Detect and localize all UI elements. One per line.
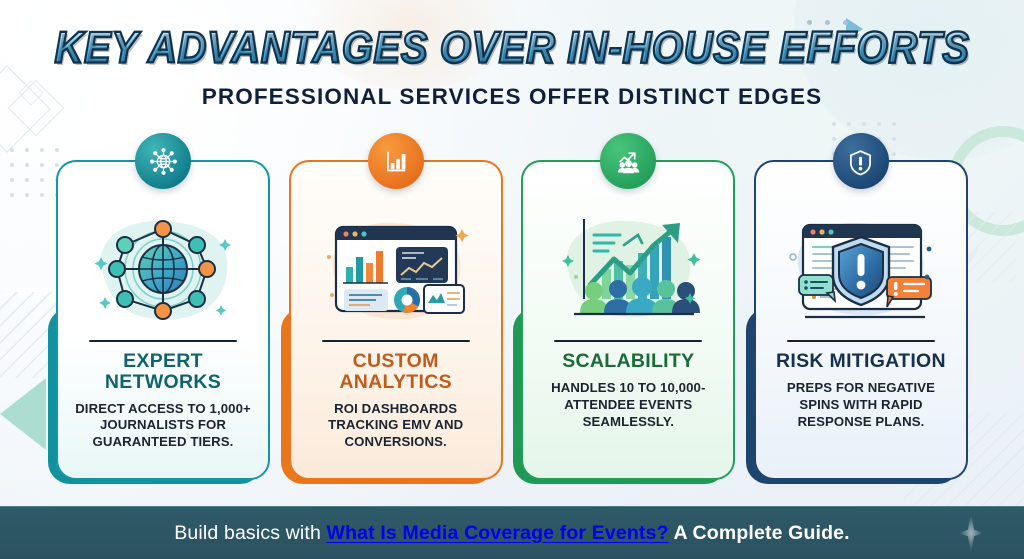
footer-text: Build basics with What Is Media Coverage… bbox=[174, 522, 849, 545]
advantage-card-scalability[interactable]: SCALABILITY HANDLES 10 TO 10,000-ATTENDE… bbox=[521, 160, 735, 480]
globe-network-icon bbox=[135, 133, 191, 189]
card-title: SCALABILITY bbox=[562, 351, 694, 372]
card-title: RISK MITIGATION bbox=[776, 351, 946, 372]
advantage-card-custom-analytics[interactable]: CUSTOM ANALYTICS ROI DASHBOARDS TRACKING… bbox=[289, 160, 503, 480]
footer-lead-text: Build basics with bbox=[174, 522, 326, 544]
card-divider bbox=[554, 340, 702, 342]
card-title: CUSTOM ANALYTICS bbox=[303, 351, 489, 392]
advantage-card-risk-mitigation[interactable]: RISK MITIGATION PREPS FOR NEGATIVE SPINS… bbox=[754, 160, 968, 480]
card-divider bbox=[322, 340, 470, 342]
advantage-card-expert-networks[interactable]: EXPERT NETWORKS DIRECT ACCESS TO 1,000+ … bbox=[56, 160, 270, 480]
page-subtitle: PROFESSIONAL SERVICES OFFER DISTINCT EDG… bbox=[0, 84, 1024, 110]
analytics-dashboard-illustration bbox=[303, 200, 489, 338]
card-title: EXPERT NETWORKS bbox=[70, 351, 256, 392]
card-body: RISK MITIGATION PREPS FOR NEGATIVE SPINS… bbox=[754, 160, 968, 480]
advantage-cards-row: EXPERT NETWORKS DIRECT ACCESS TO 1,000+ … bbox=[56, 160, 968, 480]
card-description: HANDLES 10 TO 10,000-ATTENDEE EVENTS SEA… bbox=[535, 380, 721, 431]
card-body: CUSTOM ANALYTICS ROI DASHBOARDS TRACKING… bbox=[289, 160, 503, 480]
shield-monitor-illustration bbox=[768, 200, 954, 338]
card-body: EXPERT NETWORKS DIRECT ACCESS TO 1,000+ … bbox=[56, 160, 270, 480]
page-title: KEY ADVANTAGES OVER IN-HOUSE EFFORTS bbox=[54, 26, 969, 71]
card-body: SCALABILITY HANDLES 10 TO 10,000-ATTENDE… bbox=[521, 160, 735, 480]
sparkle-icon bbox=[958, 513, 984, 553]
footer-tail-text: A Complete Guide. bbox=[669, 522, 850, 544]
shield-alert-icon bbox=[833, 133, 889, 189]
decorative-triangle-left bbox=[0, 378, 46, 450]
card-description: DIRECT ACCESS TO 1,000+ JOURNALISTS FOR … bbox=[70, 401, 256, 452]
footer-link[interactable]: What Is Media Coverage for Events? bbox=[327, 522, 669, 544]
infographic-poster: KEY ADVANTAGES OVER IN-HOUSE EFFORTS PRO… bbox=[0, 0, 1024, 559]
bar-chart-icon bbox=[368, 133, 424, 189]
growth-people-icon bbox=[600, 133, 656, 189]
global-network-illustration bbox=[70, 200, 256, 338]
title-container: KEY ADVANTAGES OVER IN-HOUSE EFFORTS bbox=[0, 28, 1024, 68]
growth-chart-crowd-illustration bbox=[535, 200, 721, 338]
card-divider bbox=[787, 340, 935, 342]
footer-bar: Build basics with What Is Media Coverage… bbox=[0, 506, 1024, 559]
decorative-dot-grid-left bbox=[10, 148, 59, 197]
card-description: PREPS FOR NEGATIVE SPINS WITH RAPID RESP… bbox=[768, 380, 954, 431]
card-description: ROI DASHBOARDS TRACKING EMV AND CONVERSI… bbox=[303, 401, 489, 452]
card-divider bbox=[89, 340, 237, 342]
